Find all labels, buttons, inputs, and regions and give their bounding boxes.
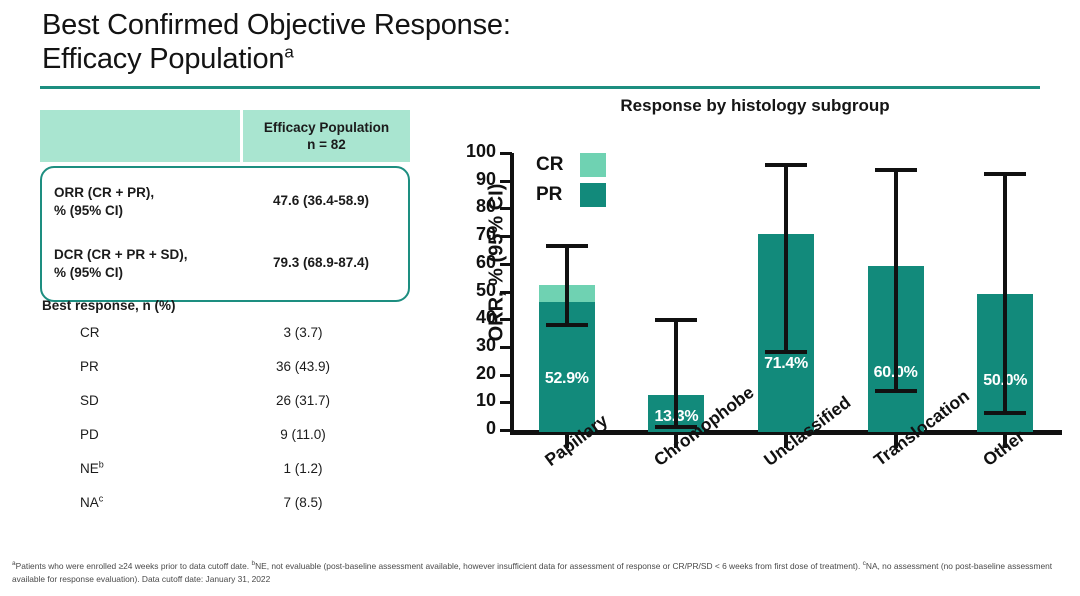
table-header-line1: Efficacy Population: [264, 119, 389, 136]
chart-error-bar: [674, 320, 678, 427]
chart-y-tick: [500, 263, 512, 266]
best-response-row-value: 7 (8.5): [192, 495, 414, 510]
page-title-line2-text: Efficacy Population: [42, 43, 284, 75]
best-response-row-label: PR: [42, 359, 192, 374]
chart-y-tick-label: 60: [440, 252, 496, 273]
chart-y-tick-label: 0: [440, 418, 496, 439]
table-row-label-line1: ORR (CR + PR),: [54, 184, 244, 202]
chart-y-tick-label: 30: [440, 335, 496, 356]
best-response-row-label: PD: [42, 427, 192, 442]
table-header-efficacy-population: Efficacy Population n = 82: [243, 110, 410, 162]
chart-x-tick: [1003, 435, 1007, 448]
best-response-row-value: 1 (1.2): [192, 461, 414, 476]
table-row-label-line2: % (95% CI): [54, 202, 244, 220]
chart-y-tick: [500, 374, 512, 377]
table-header-line2: n = 82: [307, 136, 346, 153]
chart-error-bar-cap-upper: [655, 318, 697, 322]
chart-y-tick-label: 50: [440, 280, 496, 301]
table-row-label: DCR (CR + PR + SD), % (95% CI): [54, 246, 244, 282]
chart-y-tick-label: 40: [440, 307, 496, 328]
table-body: ORR (CR + PR), % (95% CI) 47.6 (36.4-58.…: [40, 166, 410, 302]
best-response-row-label: CR: [42, 325, 192, 340]
chart-error-bar-cap-upper: [875, 168, 917, 172]
page-title-footnote-marker: a: [284, 42, 293, 61]
chart-y-tick-label: 90: [440, 169, 496, 190]
best-response-row-footnote-marker: b: [99, 460, 104, 470]
chart-error-bar: [1003, 174, 1007, 413]
chart-y-tick: [500, 401, 512, 404]
best-response-title: Best response, n (%): [42, 298, 414, 313]
chart-legend: CRPR: [536, 153, 606, 213]
chart-bar-data-label: 52.9%: [539, 370, 595, 388]
efficacy-table: Efficacy Population n = 82 ORR (CR + PR)…: [40, 110, 410, 302]
best-response-section: Best response, n (%) CR3 (3.7)PR36 (43.9…: [42, 298, 414, 529]
response-by-histology-chart: Response by histology subgroup ORR, % (9…: [440, 96, 1070, 546]
table-row: ORR (CR + PR), % (95% CI) 47.6 (36.4-58.…: [42, 178, 408, 226]
chart-y-tick: [500, 180, 512, 183]
best-response-row: SD26 (31.7): [42, 393, 414, 427]
table-row-label-line1: DCR (CR + PR + SD),: [54, 246, 244, 264]
table-row-value: 79.3 (68.9-87.4): [244, 246, 398, 270]
chart-y-tick: [500, 429, 512, 432]
best-response-row-value: 26 (31.7): [192, 393, 414, 408]
chart-legend-swatch: [580, 183, 606, 207]
best-response-row-label: NEb: [42, 461, 192, 476]
chart-y-tick: [500, 152, 512, 155]
slide-root: Best Confirmed Objective Response: Effic…: [0, 0, 1080, 596]
chart-legend-label: CR: [536, 154, 580, 176]
chart-y-tick-label: 80: [440, 196, 496, 217]
chart-bar-data-label: 71.4%: [758, 355, 814, 373]
best-response-row-label: NAc: [42, 495, 192, 510]
chart-y-tick: [500, 291, 512, 294]
chart-y-tick: [500, 318, 512, 321]
table-header-blank-cell: [40, 110, 240, 162]
chart-legend-item: CR: [536, 153, 606, 177]
chart-error-bar: [784, 165, 788, 351]
chart-y-tick-label: 20: [440, 363, 496, 384]
chart-x-tick: [565, 435, 569, 448]
best-response-row-value: 3 (3.7): [192, 325, 414, 340]
chart-error-bar-cap-upper: [984, 172, 1026, 176]
chart-error-bar-cap-lower: [875, 389, 917, 393]
chart-error-bar-cap-lower: [546, 323, 588, 327]
chart-x-tick: [894, 435, 898, 448]
best-response-row: PR36 (43.9): [42, 359, 414, 393]
table-header-row: Efficacy Population n = 82: [40, 110, 410, 162]
page-title-line1: Best Confirmed Objective Response:: [42, 8, 662, 42]
best-response-list: CR3 (3.7)PR36 (43.9)SD26 (31.7)PD9 (11.0…: [42, 325, 414, 529]
title-divider: [40, 86, 1040, 89]
best-response-row-value: 9 (11.0): [192, 427, 414, 442]
chart-y-tick: [500, 235, 512, 238]
chart-error-bar: [565, 246, 569, 325]
footnote: aPatients who were enrolled ≥24 weeks pr…: [12, 560, 1072, 585]
chart-error-bar-cap-lower: [765, 350, 807, 354]
chart-y-tick-label: 10: [440, 390, 496, 411]
page-title-line2: Efficacy Populationa: [42, 42, 662, 76]
table-row: DCR (CR + PR + SD), % (95% CI) 79.3 (68.…: [42, 240, 408, 288]
chart-x-tick: [674, 435, 678, 448]
footnote-text-b: NE, not evaluable (post-baseline assessm…: [255, 561, 863, 571]
chart-y-tick-label: 100: [440, 141, 496, 162]
best-response-row-value: 36 (43.9): [192, 359, 414, 374]
best-response-row: NAc7 (8.5): [42, 495, 414, 529]
chart-y-tick: [500, 346, 512, 349]
best-response-row-footnote-marker: c: [99, 494, 104, 504]
best-response-row: NEb1 (1.2): [42, 461, 414, 495]
best-response-row: CR3 (3.7): [42, 325, 414, 359]
table-row-label: ORR (CR + PR), % (95% CI): [54, 184, 244, 220]
table-row-label-line2: % (95% CI): [54, 264, 244, 282]
footnote-text-a: Patients who were enrolled ≥24 weeks pri…: [16, 561, 252, 571]
chart-title: Response by histology subgroup: [440, 96, 1070, 116]
chart-legend-swatch: [580, 153, 606, 177]
chart-y-tick: [500, 207, 512, 210]
best-response-row-label: SD: [42, 393, 192, 408]
table-row-value: 47.6 (36.4-58.9): [244, 184, 398, 208]
chart-legend-label: PR: [536, 184, 580, 206]
chart-error-bar-cap-lower: [984, 411, 1026, 415]
page-title: Best Confirmed Objective Response: Effic…: [42, 8, 662, 76]
chart-x-tick: [784, 435, 788, 448]
chart-error-bar-cap-upper: [765, 163, 807, 167]
chart-error-bar-cap-upper: [546, 244, 588, 248]
chart-legend-item: PR: [536, 183, 606, 207]
chart-error-bar: [894, 170, 898, 392]
chart-y-tick-label: 70: [440, 224, 496, 245]
best-response-row: PD9 (11.0): [42, 427, 414, 461]
